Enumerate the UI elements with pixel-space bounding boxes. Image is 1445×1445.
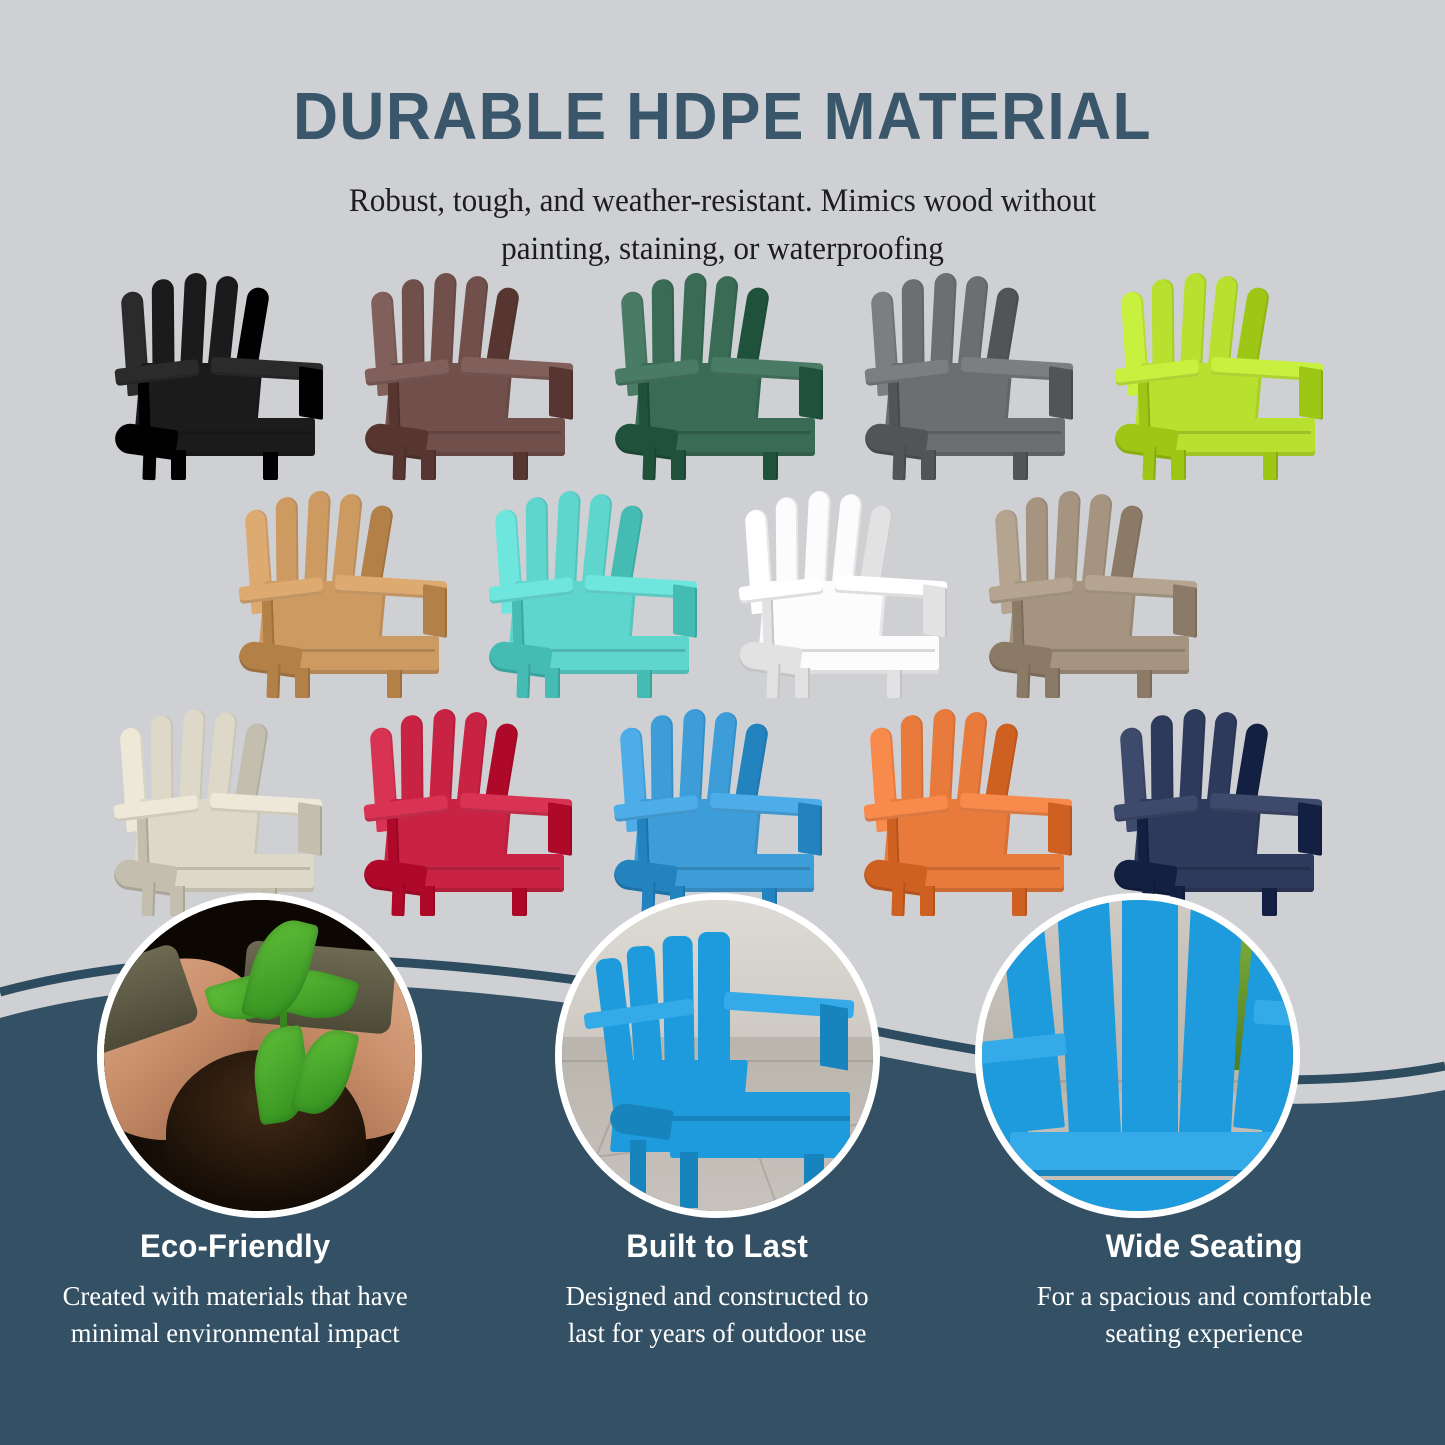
feature-photo-row [0,893,1445,1223]
chair-arm-support [799,366,823,420]
chair-rear-leg [266,664,280,698]
chair-front-leg-left [795,668,810,698]
chair-swatch-red [362,704,584,916]
chair-rear-leg [392,446,406,480]
chair-seat [414,854,564,892]
chair-seat [164,854,314,892]
chair-swatch-orange [862,704,1084,916]
chair-arm-support [423,584,447,638]
chair-swatch-teak [237,486,459,698]
feature-title: Wide Seating [970,1228,1438,1265]
chair-seat [539,636,689,674]
blue-chair-wide-seat-closeup-photo [975,893,1300,1218]
adirondack-chair-illustration [113,268,335,480]
chair-front-leg-right [1263,452,1278,480]
chair-seat-board-line [293,649,435,652]
adirondack-chair-illustration [1113,268,1335,480]
blue-adirondack-chair-on-patio-photo [555,893,880,1218]
feature-wide-seating: Wide Seating For a spacious and comforta… [963,1228,1445,1352]
chair-front-leg-left [295,668,310,698]
chair-front-leg-right [1013,452,1028,480]
chair-seat [665,418,815,456]
chair-front-leg-left [171,450,186,480]
chair-seat-board-line [793,649,935,652]
subtitle-line-2: painting, staining, or waterproofing [29,226,1416,273]
adirondack-chair-illustration [363,268,585,480]
chair-arm-support [673,584,697,638]
chair-arm-support [1299,366,1323,420]
chair-swatch-white [737,486,959,698]
chair-rear-leg [1142,446,1156,480]
chair-seat-board-line [168,867,310,870]
hands-holding-seedling-photo [97,893,422,1218]
chair-seat [789,636,939,674]
chair-rear-leg [142,446,156,480]
chair-seat [1165,418,1315,456]
adirondack-chair-illustration [862,704,1084,916]
chair-swatch-gray [863,268,1085,480]
feature-desc-line-1: Created with materials that have [1,1277,469,1314]
chair-seat-board-line [919,431,1061,434]
chair-arm-support [1298,802,1322,856]
adirondack-chair-illustration [1112,704,1334,916]
chair-arm-support [549,366,573,420]
chair-swatch-dark-green [613,268,835,480]
feature-description: For a spacious and comfortable seating e… [970,1277,1438,1352]
chair-row-1 [2,268,1445,480]
chair-front-leg-right [387,670,402,698]
chair-rear-leg [642,446,656,480]
chair-rear-leg [516,664,530,698]
chair-arm-support [548,802,572,856]
chair-seat-board-line [169,431,311,434]
chair-seat-board-line [669,431,811,434]
chair-seat-board-line [1043,649,1185,652]
chair-swatch-aruba-blue [487,486,709,698]
adirondack-chair-illustration [612,704,834,916]
chair-seat-board-line [419,431,561,434]
adirondack-chair-illustration [737,486,959,698]
adirondack-chair-illustration [362,704,584,916]
chair-swatch-navy-blue [1112,704,1334,916]
chair-seat [1039,636,1189,674]
chair-front-leg-left [671,450,686,480]
subtitle-line-1: Robust, tough, and weather-resistant. Mi… [29,178,1416,225]
chair-row-3 [0,704,1445,916]
chair-front-leg-right [513,452,528,480]
adirondack-chair-illustration [112,704,334,916]
chair-seat [1164,854,1314,892]
adirondack-chair-illustration [987,486,1209,698]
chair-swatch-ivory [112,704,334,916]
feature-desc-line-1: Designed and constructed to [484,1277,952,1314]
feature-built-to-last: Built to Last Designed and constructed t… [476,1228,958,1352]
chair-front-leg-left [545,668,560,698]
chair-front-leg-right [763,452,778,480]
chair-seat [915,418,1065,456]
adirondack-chair-illustration [237,486,459,698]
chair-front-leg-right [263,452,278,480]
adirondack-chair-illustration [487,486,709,698]
chair-front-leg-right [1137,670,1152,698]
chair-swatch-weathered-wood [987,486,1209,698]
chair-swatch-black [113,268,335,480]
feature-description: Designed and constructed to last for yea… [484,1277,952,1352]
chair-seat [415,418,565,456]
chair-arm-support [798,802,822,856]
chair-rear-leg [892,446,906,480]
chair-seat [289,636,439,674]
chair-front-leg-left [1171,450,1186,480]
chair-color-grid [0,268,1445,916]
chair-front-leg-right [887,670,902,698]
chair-seat [914,854,1064,892]
chair-arm-support [1049,366,1073,420]
chair-rear-leg [766,664,780,698]
chair-front-leg-left [1045,668,1060,698]
chair-arm-support [298,802,322,856]
feature-desc-line-2: minimal environmental impact [1,1314,469,1351]
chair-seat [664,854,814,892]
chair-seat-board-line [1168,867,1310,870]
chair-front-leg-left [421,450,436,480]
page-subtitle: Robust, tough, and weather-resistant. Mi… [29,178,1416,273]
chair-rear-leg [1016,664,1030,698]
chair-arm-support [923,584,947,638]
chair-swatch-brown [363,268,585,480]
feature-description: Created with materials that have minimal… [1,1277,469,1352]
feature-title: Built to Last [484,1228,952,1265]
chair-swatch-lime-green [1113,268,1335,480]
chair-arm-support [1048,802,1072,856]
adirondack-chair-illustration [613,268,835,480]
feature-eco-friendly: Eco-Friendly Created with materials that… [0,1228,476,1352]
chair-seat [165,418,315,456]
page-title: DURABLE HDPE MATERIAL [51,82,1395,152]
chair-seat-board-line [543,649,685,652]
chair-front-leg-left [921,450,936,480]
feature-title: Eco-Friendly [1,1228,469,1265]
chair-swatch-lake-blue [612,704,834,916]
feature-text-row: Eco-Friendly Created with materials that… [0,1228,1445,1352]
chair-seat-board-line [918,867,1060,870]
chair-seat-board-line [1169,431,1311,434]
chair-front-leg-right [637,670,652,698]
chair-seat-board-line [668,867,810,870]
header: DURABLE HDPE MATERIAL Robust, tough, and… [0,0,1445,273]
feature-desc-line-2: seating experience [970,1314,1438,1351]
chair-arm-support [299,366,323,420]
adirondack-chair-illustration [863,268,1085,480]
chair-seat-board-line [418,867,560,870]
feature-desc-line-1: For a spacious and comfortable [970,1277,1438,1314]
chair-arm-support [1173,584,1197,638]
chair-row-2 [0,486,1445,698]
feature-desc-line-2: last for years of outdoor use [484,1314,952,1351]
